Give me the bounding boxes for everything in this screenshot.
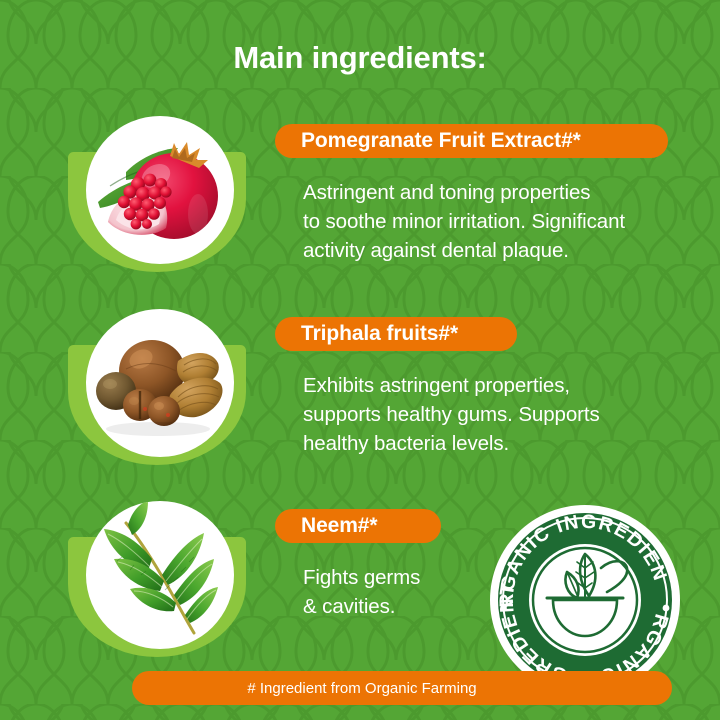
- seal-separator-dot: [500, 605, 507, 612]
- ingredient-badge-neem: Neem#*: [275, 509, 441, 543]
- organic-farming-note-bar: # Ingredient from Organic Farming: [132, 671, 672, 705]
- ingredient-badge-triphala: Triphala fruits#*: [275, 317, 517, 351]
- pomegranate-photo: [86, 116, 234, 264]
- ingredient-image-medallion: [54, 495, 259, 665]
- ingredient-image-medallion: [54, 110, 259, 280]
- ingredient-badge-label: Neem#*: [301, 514, 377, 538]
- page-title: Main ingredients:: [0, 40, 720, 76]
- ingredient-description-pomegranate: Astringent and toning properties to soot…: [303, 178, 625, 265]
- ingredient-description-triphala: Exhibits astringent properties, supports…: [303, 371, 600, 458]
- organic-ingredients-seal: *ORGANIC INGREDIENTS ORGANIC INGREDIENTS: [489, 504, 681, 696]
- neem-leaves-photo: [86, 501, 234, 649]
- ingredients-poster: Main ingredients:: [0, 0, 720, 720]
- ingredient-badge-label: Triphala fruits#*: [301, 322, 458, 346]
- ingredient-badge-label: Pomegranate Fruit Extract#*: [301, 129, 581, 153]
- ingredient-badge-pomegranate: Pomegranate Fruit Extract#*: [275, 124, 668, 158]
- ingredient-image-medallion: [54, 303, 259, 473]
- ingredient-description-neem: Fights germs & cavities.: [303, 563, 420, 621]
- seal-separator-dot: [663, 605, 670, 612]
- triphala-fruits-photo: [86, 309, 234, 457]
- organic-farming-note: # Ingredient from Organic Farming: [247, 680, 476, 697]
